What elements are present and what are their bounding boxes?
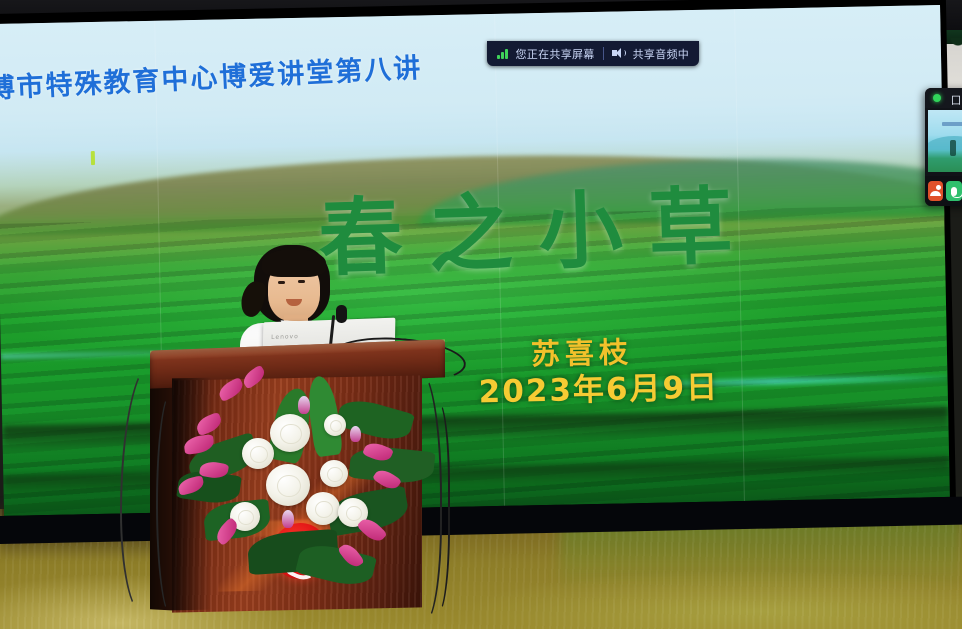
pink-flower	[240, 364, 268, 389]
sharing-status-label: 您正在共享屏幕	[516, 46, 595, 62]
self-view-figure	[950, 140, 956, 156]
self-view-horizon	[928, 136, 962, 150]
recording-active-dot	[933, 94, 941, 102]
laptop-brand-label: Lenovo	[271, 333, 299, 341]
audio-share-label: 共享音频中	[633, 46, 690, 62]
white-rose	[242, 438, 274, 469]
microphone-head	[336, 305, 347, 323]
presenter-eye-right	[298, 280, 305, 283]
speaker-icon	[612, 48, 625, 59]
leaf	[295, 539, 377, 590]
participants-button[interactable]	[928, 181, 943, 201]
slide-date-text: 2023年6月9日	[478, 362, 719, 412]
call-panel-header: 囗	[925, 88, 962, 108]
call-panel-glyph: 囗	[951, 92, 961, 107]
white-rose	[266, 464, 310, 506]
white-rose	[270, 414, 310, 452]
self-view-slide-text	[942, 122, 962, 126]
leaf	[335, 394, 415, 445]
flower-bud	[282, 510, 294, 528]
video-call-panel[interactable]: 囗	[925, 88, 962, 206]
flower-bud	[298, 396, 310, 414]
white-rose	[306, 492, 340, 525]
presenter-fringe	[262, 249, 326, 277]
pink-flower	[216, 377, 246, 402]
flower-arrangement	[178, 352, 448, 592]
slide-marker	[91, 151, 95, 165]
microphone-button[interactable]	[946, 181, 961, 201]
lecture-hall-photo: 博市特殊教育中心博爱讲堂第八讲 春之小草 苏喜枝 2023年6月9日 您正在共享…	[0, 0, 962, 629]
presenter-eye-left	[278, 281, 285, 284]
self-view-video[interactable]	[928, 110, 962, 172]
signal-bars-icon	[497, 48, 508, 59]
flower-bud	[350, 426, 361, 442]
banner-divider	[603, 47, 604, 60]
white-rose	[320, 460, 348, 487]
slide-title-text: 春之小草	[317, 158, 761, 292]
call-control-bar[interactable]	[925, 176, 962, 206]
pink-flower	[194, 412, 224, 437]
screen-share-banner[interactable]: 您正在共享屏幕 共享音频中	[487, 41, 699, 66]
white-rose	[324, 414, 346, 436]
